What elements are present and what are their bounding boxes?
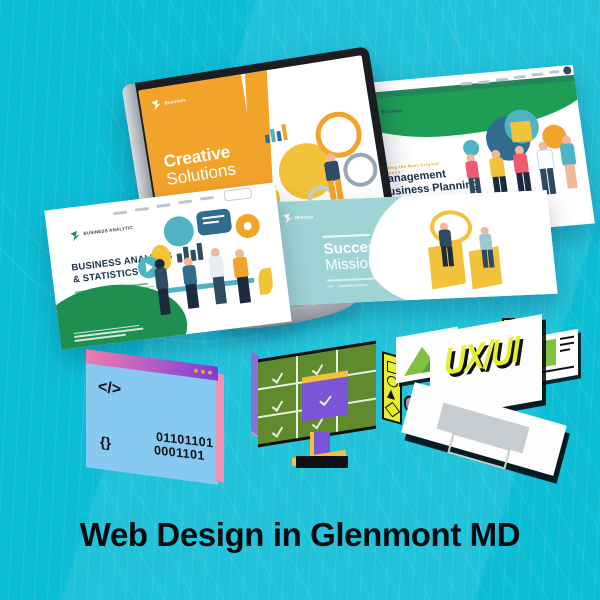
illustration-person [231, 248, 254, 306]
check-icon [312, 361, 323, 375]
illustration-person [179, 257, 201, 313]
illustration-bar-chart [264, 123, 294, 143]
window-dot[interactable] [201, 369, 205, 374]
gear-icon [234, 213, 261, 240]
grid-line [296, 356, 298, 438]
code-window-side-panel [216, 373, 224, 482]
uxui-laptop[interactable]: UX/UI [382, 318, 582, 488]
mission-brand-name: Mission [295, 214, 314, 220]
check-icon [272, 424, 283, 438]
illustration-person [556, 135, 581, 190]
check-icon [272, 370, 283, 384]
window-dot[interactable] [208, 370, 212, 375]
illustration-person [533, 141, 558, 196]
page-title: Web Design in Glenmont MD [0, 516, 600, 554]
check-icon [319, 393, 332, 406]
illustration-shape [510, 121, 533, 143]
folder-icon[interactable] [302, 376, 348, 421]
code-brace-icon: {} [100, 433, 111, 450]
mission-logo-icon [281, 211, 294, 223]
brand-logo-icon [69, 228, 82, 241]
check-icon [272, 398, 283, 412]
mission-title-line2: Mission [325, 256, 378, 274]
window-dot[interactable] [194, 368, 198, 373]
illustration-person [206, 247, 229, 307]
nav-dash[interactable] [156, 203, 170, 208]
code-tag-icon: </> [98, 378, 121, 399]
nav-dash[interactable] [135, 207, 149, 212]
iso-monitor-base [296, 456, 348, 468]
search-input[interactable] [223, 187, 252, 201]
brand-name: BUSINESS ANALYTIC [83, 225, 133, 236]
card-business-analysis[interactable]: BUSINESS ANALYTIC BUSINESS ANALYSIS & ST… [44, 182, 291, 349]
nav-dash[interactable] [200, 196, 214, 201]
card-successful-mission[interactable]: Mission Successful Mission [266, 190, 557, 306]
screen-logo-icon [150, 97, 164, 111]
poster-canvas: Business Creating the Best Original Solu… [0, 0, 600, 600]
isometric-files-monitor[interactable] [248, 344, 388, 484]
code-browser-window[interactable]: </> {} 01101101 0001101 [86, 358, 234, 480]
nav-dash[interactable] [178, 200, 192, 205]
illustration-plant [257, 267, 274, 295]
nav-dash[interactable] [113, 211, 127, 216]
